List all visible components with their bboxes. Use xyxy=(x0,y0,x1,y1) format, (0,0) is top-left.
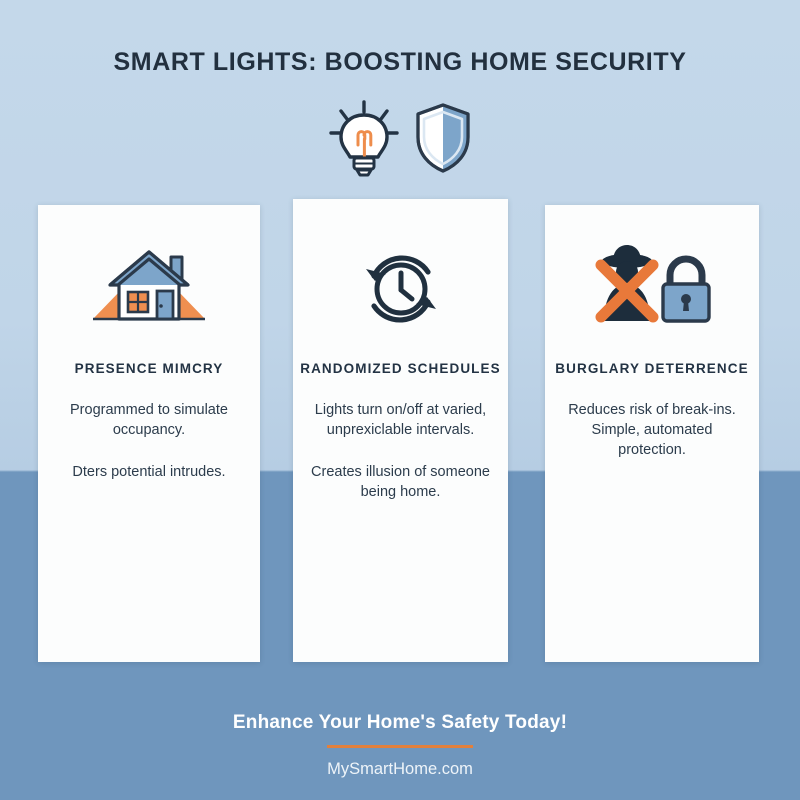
card-paragraph: Reduces risk of break-ins. Simple, autom… xyxy=(559,400,745,460)
card-body: Reduces risk of break-ins. Simple, autom… xyxy=(545,400,759,460)
card-paragraph: Creates illusion of someone being home. xyxy=(307,462,494,502)
card-paragraph: Dters potential intrudes. xyxy=(52,462,246,482)
house-with-light-icon xyxy=(38,227,260,343)
card-title: PRESENCE MIMCRY xyxy=(38,361,260,376)
feature-card-burglary-deterrence: BURGLARY DETERRENCE Reduces risk of brea… xyxy=(545,205,759,662)
card-body: Programmed to simulate occupancy. Dters … xyxy=(38,400,260,482)
card-paragraph: Lights turn on/off at varied, unprexicla… xyxy=(307,400,494,440)
page-title: SMART LIGHTS: BOOSTING HOME SECURITY xyxy=(0,48,800,77)
lightbulb-icon xyxy=(326,98,402,183)
burglar-crossed-out-padlock-icon xyxy=(545,227,759,343)
infographic-canvas: SMART LIGHTS: BOOSTING HOME SECURITY xyxy=(0,0,800,800)
footer-cta-text: Enhance Your Home's Safety Today! xyxy=(0,712,800,734)
footer-divider xyxy=(327,745,473,748)
clock-cycle-icon xyxy=(293,231,508,347)
footer: Enhance Your Home's Safety Today! MySmar… xyxy=(0,712,800,779)
card-title: RANDOMIZED SCHEDULES xyxy=(293,361,508,376)
header-icon-group xyxy=(0,98,800,183)
feature-card-randomized-schedules: RANDOMIZED SCHEDULES Lights turn on/off … xyxy=(293,199,508,662)
card-title: BURGLARY DETERRENCE xyxy=(545,361,759,376)
card-body: Lights turn on/off at varied, unprexicla… xyxy=(293,400,508,502)
card-paragraph: Programmed to simulate occupancy. xyxy=(52,400,246,440)
footer-website-url: MySmartHome.com xyxy=(0,760,800,779)
shield-icon xyxy=(412,101,474,180)
feature-card-presence-mimicry: PRESENCE MIMCRY Programmed to simulate o… xyxy=(38,205,260,662)
